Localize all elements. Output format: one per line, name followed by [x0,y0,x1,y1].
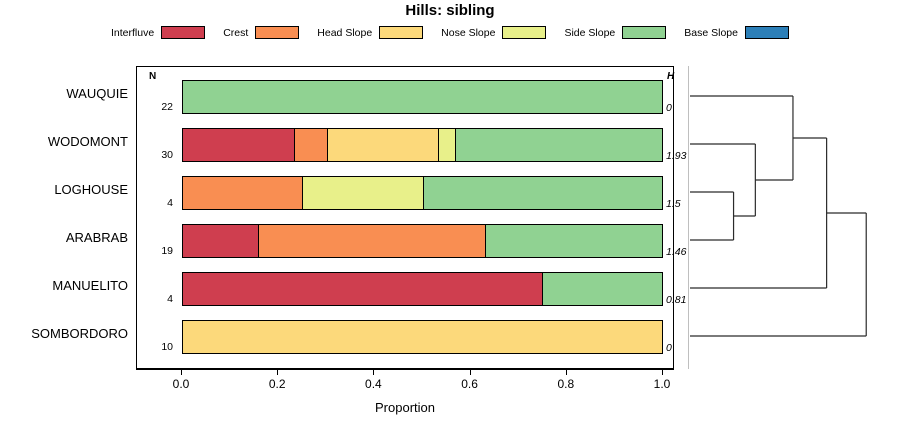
x-axis-line [136,369,674,370]
bar-segment[interactable] [183,321,662,353]
bar-segment[interactable] [183,177,303,209]
legend-item-label: Crest [223,27,248,39]
axis-tick [662,369,663,375]
axis-tick [181,369,182,375]
bar-segment[interactable] [303,177,423,209]
bar-segment[interactable] [295,129,328,161]
page-title: Hills: sibling [0,2,900,19]
legend-item-label: Base Slope [684,27,738,39]
legend-swatch [622,26,666,39]
chart-row: 191.46 [137,223,673,271]
legend-item[interactable]: Interfluve [111,26,205,39]
axis-tick [566,369,567,375]
n-value: 4 [145,293,173,305]
n-value: 30 [145,149,173,161]
chart-row: 41.5 [137,175,673,223]
legend: InterfluveCrestHead SlopeNose SlopeSide … [0,26,900,39]
bar-segment[interactable] [543,273,663,305]
dendrogram [676,66,900,369]
chart-root: Hills: sibling InterfluveCrestHead Slope… [0,0,900,440]
n-value: 10 [145,341,173,353]
stacked-bar[interactable] [182,176,663,210]
legend-item-label: Head Slope [317,27,372,39]
bar-segment[interactable] [424,177,663,209]
n-value: 22 [145,101,173,113]
axis-tick [277,369,278,375]
stacked-bar[interactable] [182,80,663,114]
legend-swatch [255,26,299,39]
legend-item-label: Interfluve [111,27,154,39]
bar-segment[interactable] [328,129,440,161]
bar-segment[interactable] [183,273,543,305]
legend-item[interactable]: Nose Slope [441,26,546,39]
bar-segment[interactable] [439,129,456,161]
legend-item[interactable]: Head Slope [317,26,423,39]
n-value: 4 [145,197,173,209]
x-axis-title: Proportion [136,400,674,415]
axis-tick [470,369,471,375]
axis-tick-label: 1.0 [642,377,682,391]
plot-panel: NH220301.9341.5191.4640.81100 [136,66,674,369]
stacked-bar[interactable] [182,128,663,162]
legend-swatch [161,26,205,39]
stacked-bar[interactable] [182,320,663,354]
chart-row: 301.93 [137,127,673,175]
legend-item[interactable]: Base Slope [684,26,789,39]
bar-segment[interactable] [259,225,486,257]
n-value: 19 [145,245,173,257]
bar-segment[interactable] [183,129,295,161]
stacked-bar[interactable] [182,272,663,306]
axis-tick-label: 0.8 [546,377,586,391]
axis-tick-label: 0.2 [257,377,297,391]
category-label: SOMBORDORO [31,326,128,341]
legend-item-label: Side Slope [564,27,615,39]
legend-item[interactable]: Crest [223,26,299,39]
category-label: MANUELITO [52,278,128,293]
legend-swatch [379,26,423,39]
chart-row: 40.81 [137,271,673,319]
chart-row: 220 [137,79,673,127]
category-label: ARABRAB [66,230,128,245]
legend-item[interactable]: Side Slope [564,26,666,39]
bar-segment[interactable] [486,225,662,257]
legend-swatch [745,26,789,39]
axis-tick-label: 0.4 [353,377,393,391]
stacked-bar[interactable] [182,224,663,258]
bar-segment[interactable] [456,129,662,161]
bar-segment[interactable] [183,81,662,113]
axis-tick-label: 0.6 [450,377,490,391]
axis-tick [373,369,374,375]
category-label: LOGHOUSE [54,182,128,197]
chart-row: 100 [137,319,673,367]
bar-segment[interactable] [183,225,259,257]
legend-item-label: Nose Slope [441,27,495,39]
category-label: WAUQUIE [66,86,128,101]
category-label: WODOMONT [48,134,128,149]
legend-swatch [502,26,546,39]
axis-tick-label: 0.0 [161,377,201,391]
